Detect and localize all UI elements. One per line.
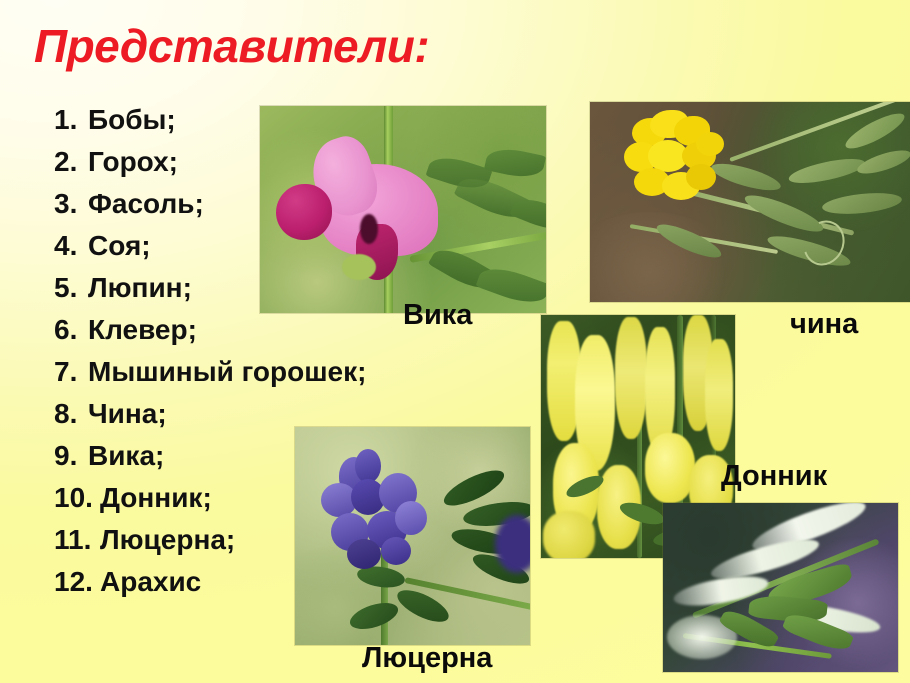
photo-white-sweet-clover	[663, 503, 898, 672]
list-item: 11.Люцерна;	[54, 524, 384, 566]
list-item-label: Клевер;	[88, 314, 197, 346]
list-item-label: Чина;	[88, 398, 167, 430]
list-item-number: 4.	[54, 230, 88, 262]
list-item: 8. Чина;	[54, 398, 384, 440]
list-item: 7. Мышиный горошек;	[54, 356, 384, 398]
list-item-number: 9.	[54, 440, 88, 472]
list-item-number: 5.	[54, 272, 88, 304]
list-item-label: Горох;	[88, 146, 178, 178]
list-item: 10.Донник;	[54, 482, 384, 524]
caption-donnik: Донник	[721, 462, 827, 491]
list-item: 12.Арахис	[54, 566, 384, 608]
list-item-label: Люцерна;	[100, 524, 235, 556]
list-item-label: Арахис	[100, 566, 201, 598]
list-item-label: Фасоль;	[88, 188, 204, 220]
list-item: 9. Вика;	[54, 440, 384, 482]
list-item: 1.Бобы;	[54, 104, 384, 146]
list-item: 5. Люпин;	[54, 272, 384, 314]
plant-list: 1.Бобы;2.Горох;3. Фасоль;4.Соя;5. Люпин;…	[54, 104, 384, 608]
list-item-label: Мышиный горошек;	[88, 356, 366, 388]
list-item-number: 3.	[54, 188, 88, 220]
list-item-number: 8.	[54, 398, 88, 430]
list-item-label: Соя;	[88, 230, 151, 262]
list-item: 2.Горох;	[54, 146, 384, 188]
page-title: Представители:	[34, 23, 429, 69]
list-item-number: 12.	[54, 566, 100, 598]
list-item: 6.Клевер;	[54, 314, 384, 356]
list-item-label: Донник;	[100, 482, 212, 514]
list-item-number: 6.	[54, 314, 88, 346]
list-item: 4.Соя;	[54, 230, 384, 272]
list-item-number: 11.	[54, 524, 100, 556]
list-item-number: 1.	[54, 104, 88, 136]
list-item-number: 10.	[54, 482, 100, 514]
slide-canvas: Представители: Вика	[0, 0, 910, 683]
list-item-label: Люпин;	[88, 272, 192, 304]
caption-china: чина	[790, 310, 858, 339]
list-item-number: 7.	[54, 356, 88, 388]
list-item-label: Бобы;	[88, 104, 176, 136]
list-item-label: Вика;	[88, 440, 164, 472]
caption-lyutserna: Люцерна	[362, 644, 492, 673]
list-item-number: 2.	[54, 146, 88, 178]
photo-china	[590, 102, 910, 302]
caption-vika: Вика	[403, 301, 472, 330]
list-item: 3. Фасоль;	[54, 188, 384, 230]
